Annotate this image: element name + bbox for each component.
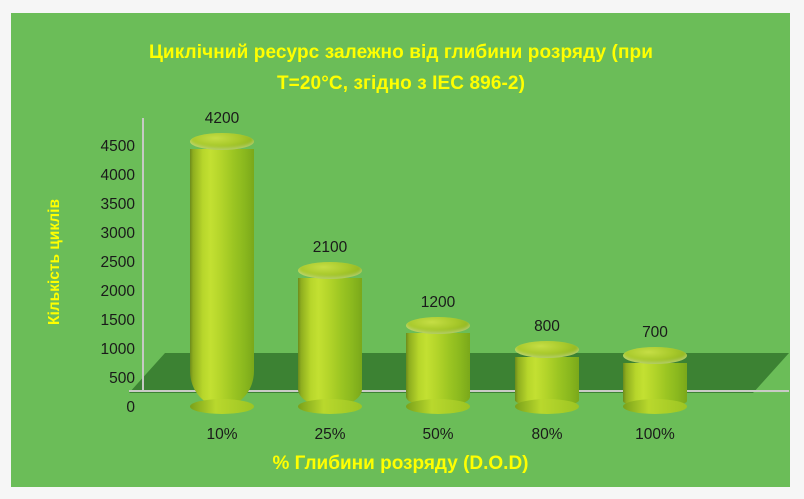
bar-body [406, 333, 470, 407]
bar-value-label-80-percent: 800 [507, 319, 587, 335]
y-tick-1500: 1500 [71, 313, 135, 329]
plot-area: 4500 4000 3500 3000 2500 2000 1500 1000 … [11, 13, 790, 487]
bar-body [190, 149, 254, 407]
x-tick-25-percent: 25% [290, 427, 370, 443]
x-tick-100-percent: 100% [615, 427, 695, 443]
y-axis-title: Кількість циклів [46, 172, 64, 352]
y-tick-500: 500 [71, 371, 135, 387]
bar-top-ellipse [406, 317, 470, 334]
bar-top-ellipse [515, 341, 579, 358]
bar-value-label-100-percent: 700 [615, 325, 695, 341]
bar-body [298, 278, 362, 407]
bar-25-percent[interactable] [298, 271, 362, 407]
bar-top-ellipse [298, 262, 362, 279]
x-tick-50-percent: 50% [398, 427, 478, 443]
bar-50-percent[interactable] [406, 326, 470, 407]
bar-bottom-cap [623, 399, 687, 414]
y-tick-4000: 4000 [71, 168, 135, 184]
y-tick-3500: 3500 [71, 197, 135, 213]
bar-80-percent[interactable] [515, 350, 579, 407]
y-tick-3000: 3000 [71, 226, 135, 242]
x-tick-80-percent: 80% [507, 427, 587, 443]
chart-panel: Циклічний ресурс залежно від глибини роз… [11, 13, 790, 487]
bar-value-label-50-percent: 1200 [398, 295, 478, 311]
bar-value-label-10-percent: 4200 [182, 111, 262, 127]
y-axis-line [142, 118, 144, 391]
bar-top-ellipse [623, 347, 687, 364]
bar-100-percent[interactable] [623, 356, 687, 407]
chart-screenshot: Циклічний ресурс залежно від глибини роз… [0, 0, 804, 499]
bar-bottom-cap [406, 399, 470, 414]
y-tick-0: 0 [71, 400, 135, 416]
y-tick-2500: 2500 [71, 255, 135, 271]
bar-10-percent[interactable] [190, 142, 254, 407]
y-axis-ticks: 4500 4000 3500 3000 2500 2000 1500 1000 … [71, 13, 135, 487]
bar-bottom-cap [298, 399, 362, 414]
bar-value-label-25-percent: 2100 [290, 240, 370, 256]
y-tick-4500: 4500 [71, 139, 135, 155]
bar-bottom-cap [515, 399, 579, 414]
y-tick-1000: 1000 [71, 342, 135, 358]
x-axis-title: % Глибини розряду (D.O.D) [11, 453, 790, 475]
bar-bottom-cap [190, 399, 254, 414]
x-tick-10-percent: 10% [182, 427, 262, 443]
y-tick-2000: 2000 [71, 284, 135, 300]
bar-top-ellipse [190, 133, 254, 150]
